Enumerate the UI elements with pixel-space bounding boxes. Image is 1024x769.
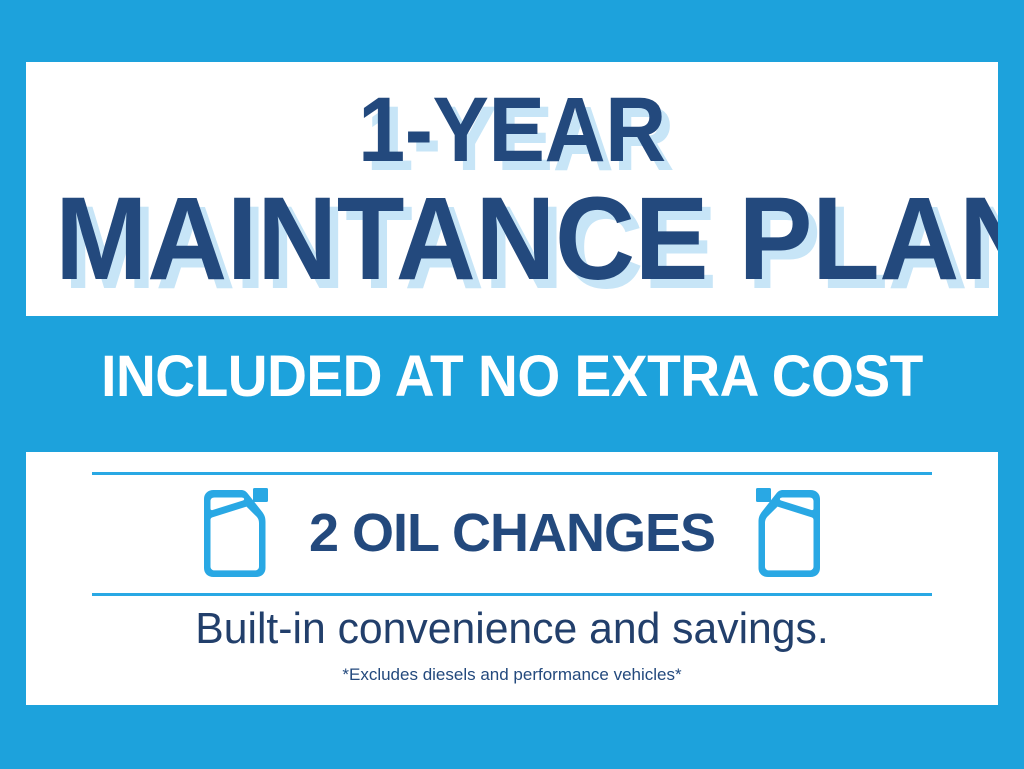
offer-label: 2 OIL CHANGES: [309, 506, 715, 560]
promo-poster: 1-YEAR MAINTANCE PLAN INCLUDED AT NO EXT…: [0, 0, 1024, 769]
headline-panel: 1-YEAR MAINTANCE PLAN: [26, 62, 998, 316]
subheadline: INCLUDED AT NO EXTRA COST: [26, 348, 999, 406]
tagline: Built-in convenience and savings.: [41, 607, 984, 651]
oil-jug-icon: [195, 487, 273, 579]
oil-jug-icon: [751, 487, 829, 579]
headline-line-2: MAINTANCE PLAN: [55, 180, 969, 298]
disclaimer: *Excludes diesels and performance vehicl…: [26, 666, 998, 683]
offer-card: 2 OIL CHANGES Built-in convenience and s…: [26, 452, 998, 705]
divider-bottom: [92, 593, 932, 596]
divider-top: [92, 472, 932, 475]
offer-row: 2 OIL CHANGES: [26, 480, 998, 586]
headline-line-1: 1-YEAR: [65, 84, 959, 176]
